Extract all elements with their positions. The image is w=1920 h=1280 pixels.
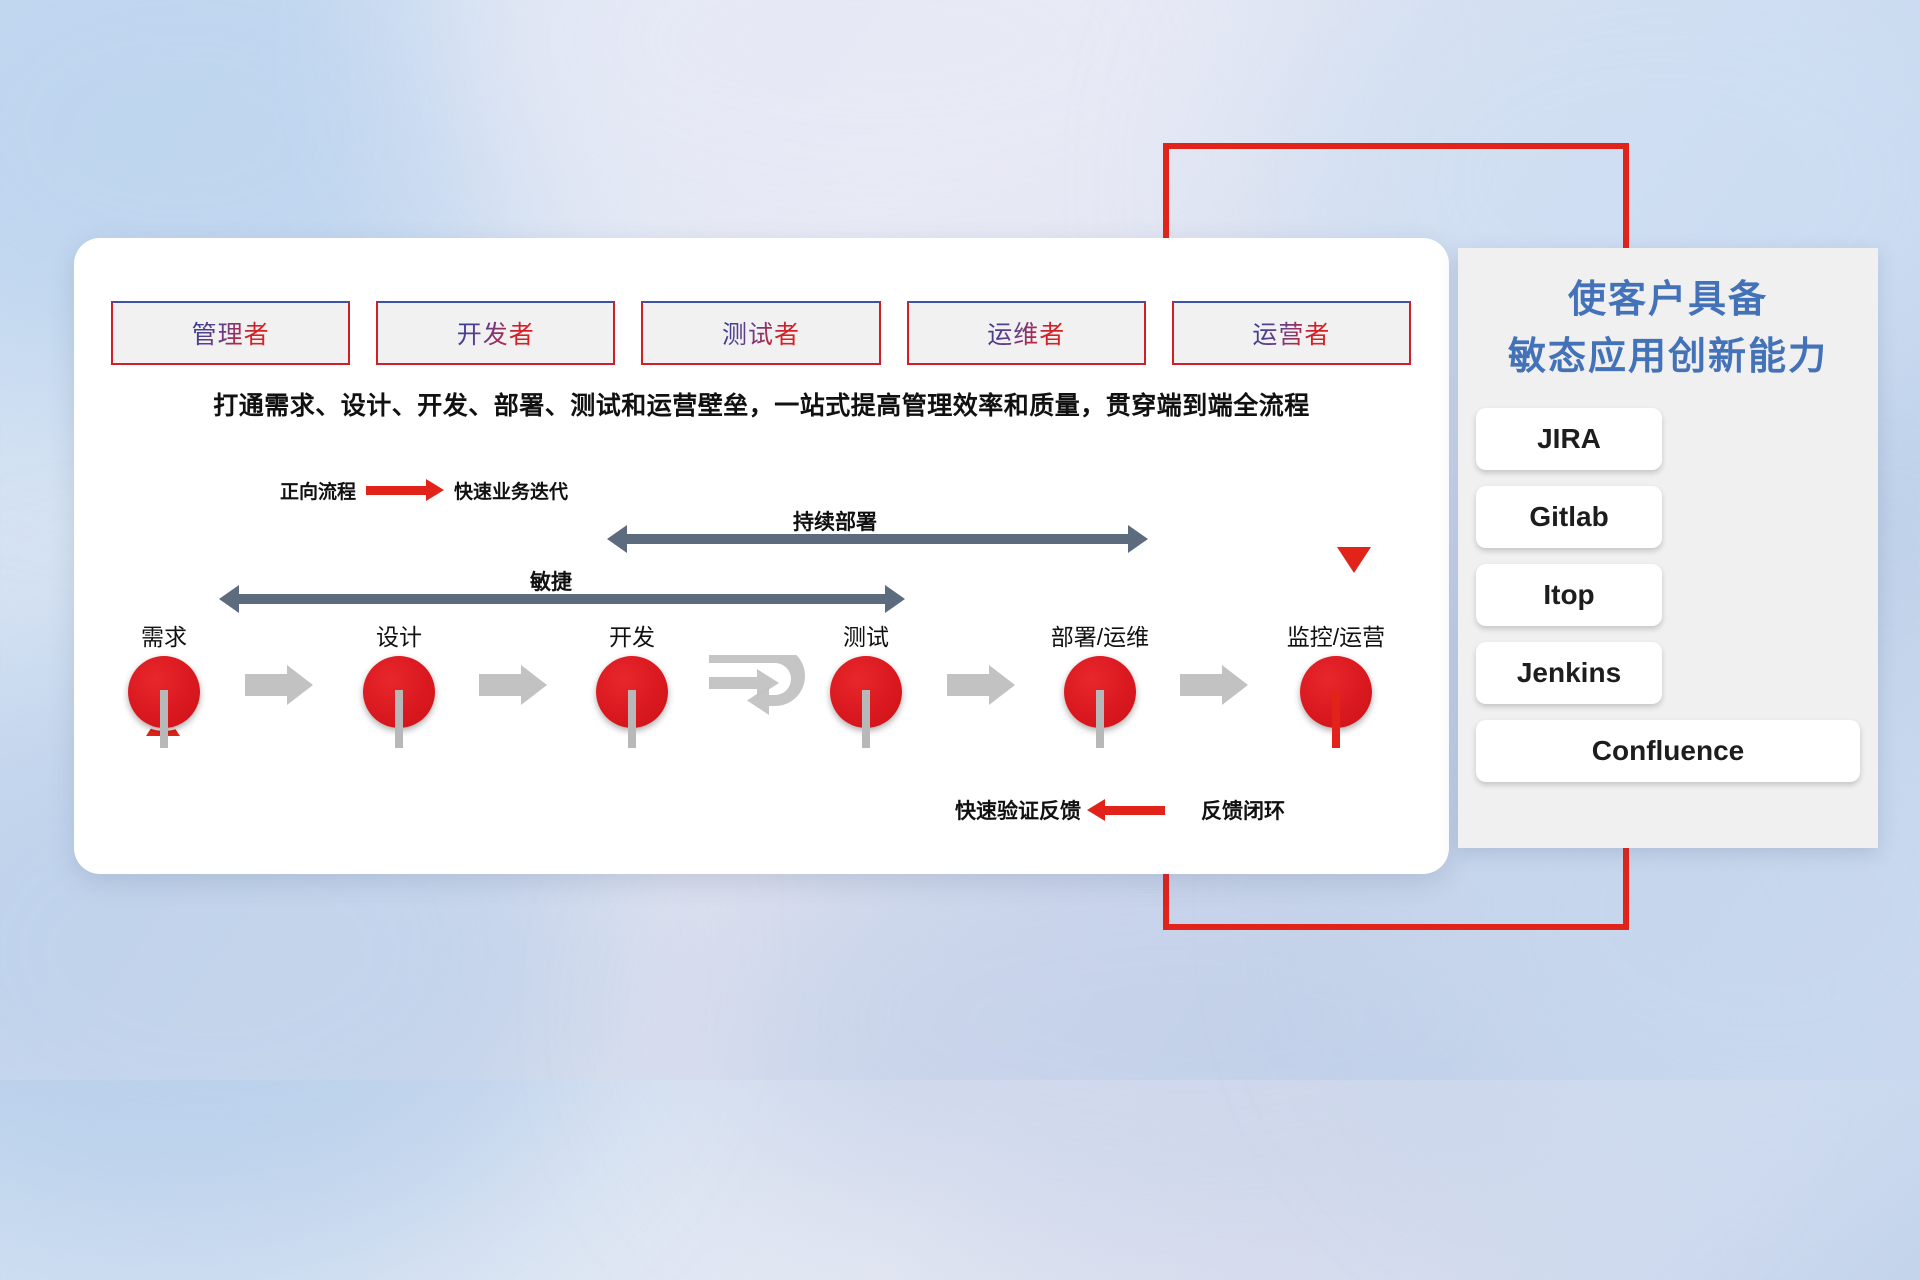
loop-back-icon: [705, 655, 815, 727]
stage-stub: [160, 690, 168, 748]
arrow-left-red-icon: [1103, 806, 1165, 815]
stage-label: 监控/运营: [1266, 618, 1406, 652]
feedback-legend: 快速验证反馈 反馈闭环: [955, 795, 1285, 825]
stage-stub: [395, 690, 403, 748]
feedback-loop-label: 反馈闭环: [1201, 795, 1285, 825]
stage-label: 设计: [329, 618, 469, 652]
stage-connector-arrow-icon: [245, 665, 315, 705]
stage-connector-arrow-icon: [947, 665, 1017, 705]
stage-label: 需求: [94, 618, 234, 652]
stage-stub: [628, 690, 636, 748]
stage-stub: [1332, 690, 1340, 748]
stage-stub: [1096, 690, 1104, 748]
stage-connector-arrow-icon: [1180, 665, 1250, 705]
stage-label: 测试: [796, 618, 936, 652]
fast-validation-feedback-label: 快速验证反馈: [955, 795, 1081, 825]
stage-label: 开发: [562, 618, 702, 652]
process-stages: 需求 设计 开发 测试 部署/运维 监控/运营: [0, 0, 1920, 1080]
stage-connector-arrow-icon: [479, 665, 549, 705]
stage-stub: [862, 690, 870, 748]
stage-label: 部署/运维: [1030, 618, 1170, 652]
